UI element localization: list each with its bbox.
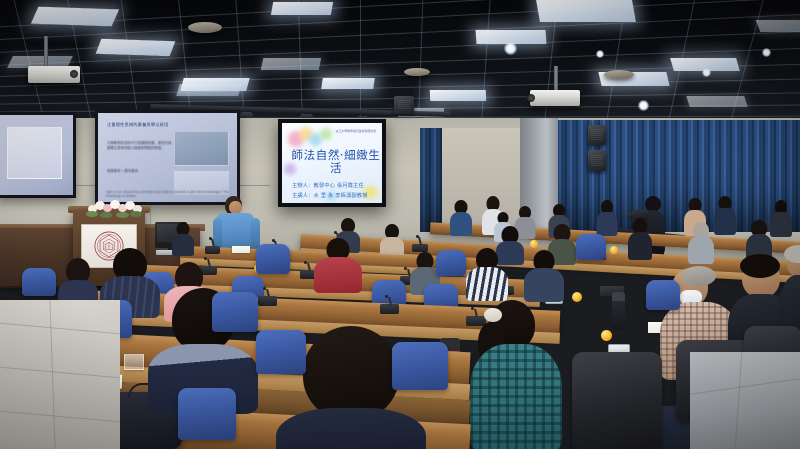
floor-right-aisle: [690, 352, 800, 449]
slide-title-left: 注重理性思辨的素養與學以致用: [107, 122, 179, 127]
flower-leaf: [86, 211, 98, 217]
ceiling-light-panel: [271, 2, 333, 15]
ceiling-spotlight: [762, 48, 771, 57]
ceiling-light-panel: [31, 7, 119, 27]
projector-mount: [44, 36, 48, 68]
audience-member: [380, 224, 404, 254]
torso: [314, 257, 362, 293]
lecture-hall-photo: 注重理性思辨的素養與學以致用 大學教育的目的不只是傳授知識，更在於培養獨立思考的…: [0, 0, 800, 449]
ceiling-projector: [530, 90, 580, 106]
lecture-chair: [256, 330, 306, 374]
torso: [524, 268, 564, 302]
black-thermos: [612, 292, 625, 330]
projector-mount: [554, 66, 558, 92]
lecture-chair: [212, 292, 258, 332]
torso: [172, 234, 194, 256]
ceiling-light-panel: [756, 20, 800, 32]
audience-member: [524, 250, 564, 300]
office-chair: [572, 352, 662, 449]
lecture-chair: [178, 388, 236, 440]
audience-member: [58, 258, 98, 306]
torso: [688, 236, 714, 264]
lecture-chair: [256, 244, 290, 274]
torso: [628, 232, 652, 260]
slide-body-left: 大學教育的目的不只是傳授知識，更在於培養獨立思考的能力與面對問題的態度。: [107, 141, 173, 150]
ceiling-light-panel: [261, 58, 322, 70]
wall-speaker: [588, 150, 606, 171]
lecture-chair: [646, 280, 680, 310]
hair-scrunchie: [484, 308, 502, 322]
slide-photo-block: [174, 131, 229, 166]
slide-highlight-left: 素養教育 × 實作應用: [107, 169, 173, 174]
projection-screen-left: 注重理性思辨的素養與學以致用 大學教育的目的不只是傳授知識，更在於培養獨立思考的…: [95, 110, 240, 205]
lecture-chair: [392, 342, 448, 390]
audience-member: [628, 218, 652, 258]
audience-member-red-polo: [314, 238, 362, 290]
orange-fruit: [601, 330, 612, 341]
projection-screen-center: 淡江大學教學與行政革新研討會 師法自然‧細緻生活 主辦人：教發中心 張月霞主任 …: [278, 119, 386, 207]
audience-member: [466, 248, 508, 298]
floor-left-aisle: [0, 300, 120, 449]
audience-member-plaid: [470, 300, 562, 449]
ceiling-spotlight: [702, 68, 711, 77]
torso: [714, 208, 736, 235]
orange-fruit: [572, 292, 582, 302]
projector-lens: [70, 70, 78, 78]
slide-image-block: [7, 127, 62, 179]
slide-organizer-line: 主辦人：教發中心 張月霞主任: [292, 183, 384, 189]
orange-fruit: [610, 246, 618, 254]
slide-header-center: 淡江大學教學與行政革新研討會: [324, 130, 376, 134]
ceiling-light-panel: [180, 78, 249, 91]
projection-screen-far-left: [0, 112, 76, 198]
audience-member: [688, 222, 714, 262]
ceiling-fan-disc: [404, 68, 430, 76]
desk-microphone: [412, 244, 428, 252]
torso: [276, 408, 426, 449]
lecture-chair: [436, 250, 466, 276]
ceiling-light-panel: [686, 96, 748, 107]
flower-leaf: [116, 212, 129, 218]
ceiling-light-panel: [321, 78, 375, 89]
flower-leaf: [100, 212, 112, 218]
ceiling-spotlight: [638, 100, 649, 111]
slide-background: 淡江大學教學與行政革新研討會 師法自然‧細緻生活 主辦人：教發中心 張月霞主任 …: [282, 123, 382, 203]
ceiling-fan-disc: [188, 22, 222, 33]
plastic-cup: [124, 354, 144, 370]
curtain-left-of-pillar: [420, 128, 442, 232]
ceiling-light-panel: [96, 39, 176, 57]
audience-member: [596, 200, 618, 234]
torso: [466, 267, 508, 301]
grey-hair: [682, 266, 716, 286]
slide-presenter-line: 主講人：水 里 永 李栢湧副教授: [292, 193, 384, 199]
audience-member: [450, 200, 472, 234]
audience-member: [770, 200, 792, 236]
bottle-cap: [612, 292, 625, 301]
wall-speaker: [394, 96, 414, 114]
desk-microphone: [258, 296, 277, 306]
projector-lens: [527, 94, 535, 102]
audience-member: [714, 196, 736, 234]
torso: [770, 212, 792, 237]
notebook: [232, 246, 250, 253]
ceiling-light-panel: [430, 90, 486, 101]
torso: [450, 212, 472, 236]
desk-microphone: [205, 246, 220, 254]
orange-fruit: [530, 240, 538, 248]
flower-leaf: [130, 211, 142, 217]
lecture-chair: [22, 268, 56, 296]
ceiling-fan-disc: [604, 70, 634, 79]
audience-member: [172, 222, 194, 254]
hair: [740, 254, 780, 278]
torso: [597, 212, 618, 236]
ceiling-light-panel: [536, 0, 636, 22]
head: [303, 326, 399, 420]
wall-speaker: [588, 125, 606, 145]
desk-microphone: [380, 304, 399, 314]
slide-title-center: 師法自然‧細緻生活: [286, 149, 386, 175]
floral-arrangement: [86, 198, 150, 220]
ceiling-spotlight: [596, 50, 604, 58]
lecture-chair: [576, 234, 606, 260]
ceiling-spotlight: [504, 42, 517, 55]
torso: [470, 344, 562, 449]
